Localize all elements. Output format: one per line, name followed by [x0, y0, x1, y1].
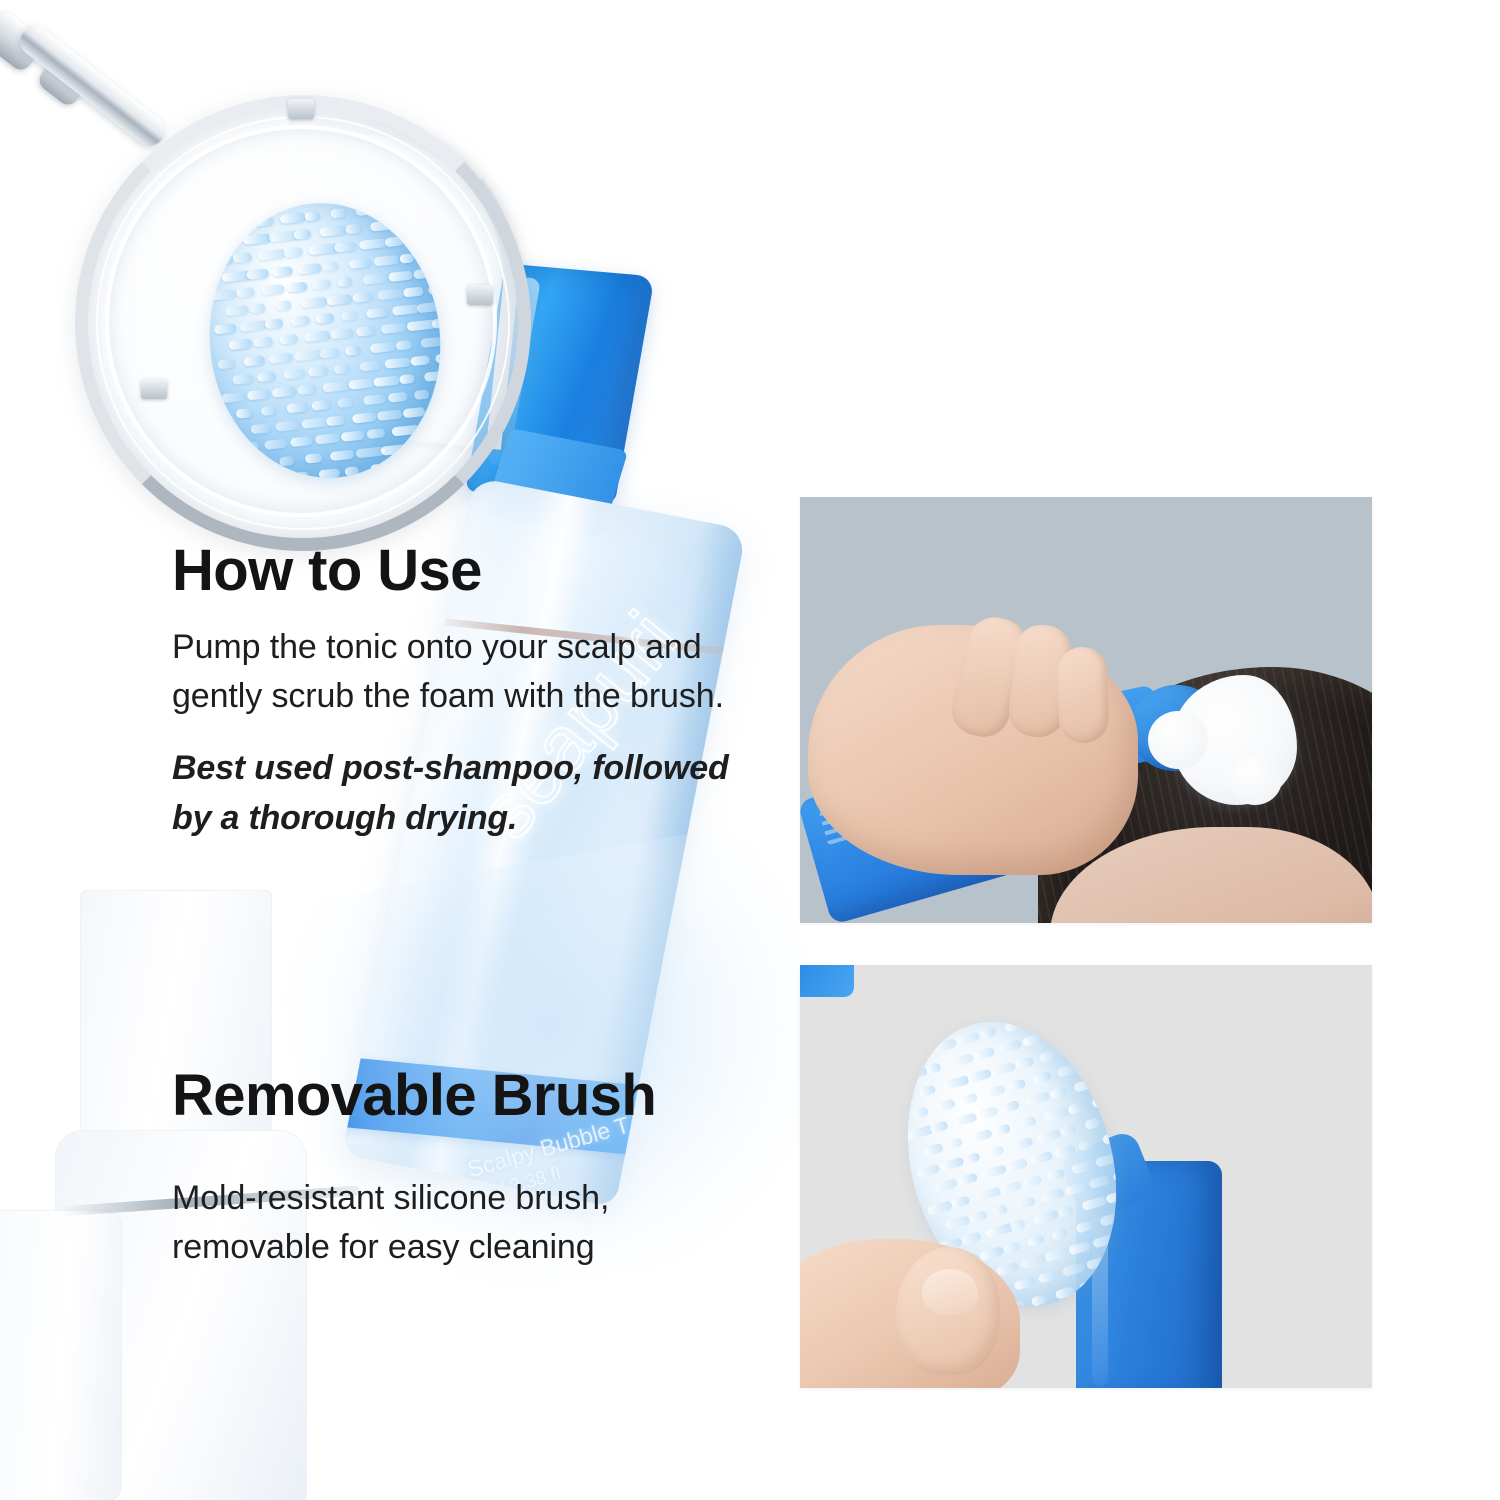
how-to-use-heading: How to Use — [172, 540, 732, 603]
bristle — [239, 320, 267, 332]
photo-brush-removal — [800, 965, 1372, 1388]
bristle — [275, 420, 300, 431]
bristle — [261, 406, 276, 416]
bristle — [435, 352, 453, 363]
bristle — [413, 390, 429, 401]
bristle — [912, 1106, 929, 1119]
thumbnail — [922, 1269, 978, 1315]
bristle — [940, 1156, 965, 1171]
bristle — [315, 433, 340, 444]
bristle — [366, 429, 385, 440]
bristle — [370, 220, 398, 232]
bristle — [901, 1066, 928, 1082]
bristle — [406, 442, 423, 453]
finger — [1056, 646, 1109, 744]
bristle — [272, 386, 296, 397]
bristle — [1057, 1205, 1074, 1218]
bristle — [330, 449, 355, 460]
bristle — [996, 1262, 1019, 1277]
bristle — [406, 320, 436, 332]
bristle — [337, 397, 354, 408]
bristle — [932, 1038, 957, 1053]
bristle — [265, 318, 284, 329]
bristle — [995, 1123, 1011, 1136]
how-to-use-body: Pump the tonic onto your scalp and gentl… — [172, 623, 732, 722]
bristle — [319, 225, 347, 237]
bristle — [1051, 1227, 1069, 1240]
bristle — [1045, 1027, 1067, 1041]
bristle — [305, 211, 321, 221]
bristle — [257, 371, 275, 382]
bristle — [247, 268, 269, 279]
bristle — [341, 311, 358, 322]
bristle — [919, 1084, 937, 1097]
bristle — [1073, 1077, 1101, 1093]
bristle — [1068, 1241, 1092, 1256]
brush-head-magnified — [196, 192, 453, 490]
removable-brush-body: Mold-resistant silicone brush, removable… — [172, 1174, 772, 1273]
bristle — [1080, 1056, 1104, 1071]
bristle — [370, 341, 396, 353]
bristle — [1032, 1071, 1052, 1085]
magnifier-lens — [105, 125, 497, 517]
bristle — [345, 224, 362, 235]
bristle — [1019, 1115, 1038, 1128]
bristle — [374, 254, 400, 266]
bristle — [1009, 1219, 1026, 1232]
bristle — [1084, 1117, 1101, 1130]
bristle — [344, 466, 359, 476]
foam — [1172, 675, 1297, 805]
magnifier-handle — [0, 13, 205, 163]
bristle — [341, 431, 365, 442]
bristle — [272, 266, 293, 277]
bristle — [377, 410, 402, 422]
section-removable-brush: Removable Brush Mold-resistant silicone … — [172, 1065, 772, 1273]
bristle — [294, 349, 325, 361]
bristle — [254, 337, 274, 348]
bristle — [1040, 1188, 1065, 1203]
bristle — [243, 477, 258, 487]
bristle — [432, 439, 450, 450]
removable-brush-heading: Removable Brush — [172, 1065, 772, 1128]
bristle — [923, 1142, 944, 1156]
bristle — [207, 255, 233, 267]
bristle — [980, 1027, 997, 1040]
magnifier-clip — [141, 379, 167, 399]
bristle — [1060, 1124, 1077, 1137]
bristle — [312, 400, 331, 411]
bristle — [261, 284, 285, 295]
bristle — [943, 1074, 971, 1090]
bristle — [294, 229, 311, 240]
bristle — [964, 1152, 981, 1165]
bristle — [1001, 1100, 1020, 1113]
bristle — [1061, 1262, 1086, 1277]
bristle — [399, 374, 415, 385]
bristle — [236, 287, 255, 298]
magnifier-icon — [75, 95, 555, 575]
bristle — [232, 373, 254, 384]
bristle — [1049, 1086, 1068, 1099]
bristle — [388, 270, 413, 281]
bristle — [1088, 1175, 1110, 1189]
bristle — [1075, 1220, 1094, 1233]
bristle — [254, 216, 273, 227]
bristle — [352, 292, 373, 303]
bristle — [442, 420, 453, 431]
bristle — [355, 446, 385, 458]
handle-joint — [35, 55, 91, 109]
bristle — [1021, 1033, 1043, 1047]
bristle — [1005, 1158, 1028, 1173]
bristle — [301, 297, 328, 309]
bristle — [1027, 1234, 1045, 1247]
bristle — [221, 392, 245, 403]
bristle — [973, 1047, 995, 1061]
bristle — [363, 394, 387, 405]
bristle — [374, 375, 400, 387]
bristle — [1091, 1094, 1113, 1108]
bristle — [1020, 1253, 1048, 1269]
bristle — [1004, 1018, 1026, 1032]
bristle — [410, 234, 431, 245]
bristle — [424, 370, 446, 381]
blue-corner-accent — [800, 965, 854, 997]
bristle — [1064, 1181, 1088, 1196]
bristle — [225, 305, 249, 316]
bristle — [323, 380, 352, 392]
bristle — [232, 253, 252, 264]
bristle — [981, 1164, 1007, 1180]
bristle — [399, 253, 414, 263]
bristle — [312, 279, 331, 290]
bristle — [979, 1246, 1005, 1261]
bristle — [1016, 1196, 1036, 1210]
bristle — [203, 222, 219, 232]
bristle — [1069, 1020, 1089, 1034]
bristle — [1077, 1139, 1094, 1152]
bristle — [279, 334, 298, 345]
bristle — [977, 1106, 999, 1120]
bristle — [337, 277, 352, 287]
bristle — [417, 301, 446, 313]
bristle — [283, 247, 303, 258]
bristle — [1055, 1286, 1076, 1300]
bristle — [999, 1180, 1023, 1195]
bristle — [991, 1061, 1017, 1076]
handle-joint — [0, 8, 47, 74]
bristle — [421, 457, 445, 468]
bristle — [884, 1052, 908, 1067]
bristle — [956, 1031, 981, 1046]
bristle — [348, 378, 376, 390]
bristle — [268, 473, 293, 484]
bristle — [392, 304, 420, 316]
bristle — [301, 417, 332, 429]
bristle — [421, 214, 451, 226]
bristle — [953, 1113, 977, 1128]
bristle — [1003, 1241, 1022, 1254]
bristle — [1028, 1013, 1044, 1026]
bristle — [243, 233, 272, 245]
bristle — [395, 339, 412, 350]
bristle — [250, 303, 265, 313]
bristle — [377, 288, 404, 300]
bristle — [968, 1210, 988, 1224]
magnifier-clip — [288, 99, 314, 119]
bristle — [348, 257, 372, 268]
bristle — [1053, 1144, 1076, 1159]
bristle — [308, 366, 329, 377]
bristle — [395, 217, 422, 229]
bristle — [933, 1178, 958, 1193]
bristle — [1037, 1271, 1057, 1285]
bristle — [1056, 1064, 1078, 1078]
bristle — [228, 460, 255, 472]
bristle — [323, 261, 339, 271]
bristle — [279, 456, 295, 467]
bristle — [381, 443, 410, 455]
bristle — [305, 331, 331, 343]
handle-bar — [14, 20, 170, 151]
bristle — [975, 1186, 1002, 1202]
bristle — [395, 460, 417, 471]
bristle — [308, 244, 338, 256]
bristle — [352, 412, 377, 423]
bristle — [406, 200, 427, 211]
bristle — [1081, 1196, 1108, 1212]
bristle — [392, 425, 420, 437]
magnifier-clip — [467, 285, 493, 305]
bristle — [961, 1232, 982, 1246]
bristle — [283, 368, 305, 379]
bristle — [236, 408, 253, 419]
bristle — [319, 347, 340, 358]
flask-shape — [0, 1210, 122, 1500]
bristle — [228, 339, 252, 350]
bristle — [988, 1145, 1004, 1158]
bristle — [960, 1092, 978, 1105]
bristle — [1047, 1168, 1066, 1181]
bristle — [286, 402, 308, 413]
bristle — [1036, 1129, 1062, 1144]
bristle — [936, 1098, 957, 1112]
bristle — [925, 1062, 942, 1075]
bristle — [388, 392, 408, 403]
section-how-to-use: How to Use Pump the tonic onto your scal… — [172, 540, 732, 843]
bottle-neck — [484, 428, 628, 537]
bristle — [290, 316, 310, 327]
bristle — [1008, 1078, 1027, 1091]
bristle — [381, 323, 406, 335]
bristle — [297, 384, 316, 395]
bristle — [334, 242, 357, 253]
bristle — [359, 360, 381, 371]
bristle — [428, 405, 445, 416]
bristle — [290, 436, 313, 447]
magnifier-ring — [75, 95, 531, 551]
bristle — [326, 294, 352, 306]
bristle — [279, 212, 305, 224]
bristle — [243, 355, 265, 366]
bristle — [421, 336, 444, 347]
bristle — [225, 427, 241, 437]
photo-scalp-application — [800, 497, 1372, 923]
how-to-use-emphasis: Best used post-shampoo, followed by a th… — [172, 744, 732, 843]
bristle — [417, 423, 442, 434]
bristle — [403, 286, 424, 297]
bristle — [221, 270, 252, 282]
bristle — [370, 462, 400, 474]
bristle — [997, 1039, 1022, 1054]
bristle — [344, 345, 360, 356]
bristle — [304, 453, 322, 464]
bristle — [217, 358, 234, 369]
bristle — [424, 249, 451, 261]
bristle — [895, 1090, 915, 1104]
bristle — [1063, 1043, 1080, 1056]
bristle — [971, 1128, 993, 1142]
bristle — [1015, 1056, 1035, 1070]
bristle — [927, 1200, 953, 1215]
bristle — [984, 1084, 1006, 1098]
bristle — [428, 283, 454, 295]
bristle — [359, 238, 388, 250]
bristle — [1012, 1137, 1034, 1151]
bristle — [210, 289, 237, 301]
bristle — [319, 468, 340, 479]
bristle — [218, 237, 237, 248]
product-infographic: seapuri Scalpy Bubble T ml / 3.38 fl — [0, 0, 1500, 1500]
bristle — [276, 300, 292, 311]
bristle — [1031, 1294, 1048, 1307]
bristle — [403, 407, 426, 418]
bristle — [414, 268, 438, 279]
bristle — [947, 1137, 963, 1150]
bristle — [432, 317, 454, 329]
bristle — [992, 1204, 1008, 1217]
bristle — [330, 208, 346, 218]
bristle — [286, 281, 307, 292]
bristle — [315, 313, 334, 324]
bristle — [366, 307, 388, 318]
bristle — [446, 454, 454, 466]
bristle — [363, 273, 389, 285]
bristle — [355, 326, 375, 337]
bristle — [214, 323, 237, 334]
bristle — [257, 249, 285, 261]
bristle — [250, 423, 271, 434]
bristle — [239, 442, 259, 453]
bristle — [916, 1163, 941, 1178]
bristle — [1039, 1049, 1058, 1062]
bristle — [356, 204, 384, 216]
bristle — [294, 471, 310, 482]
bristle — [951, 1195, 971, 1209]
bristle — [326, 416, 346, 427]
bristle — [265, 439, 289, 450]
bristle — [334, 363, 350, 373]
bristle — [967, 1068, 993, 1083]
bristle — [1013, 1277, 1036, 1292]
bristle — [410, 355, 431, 366]
bristle — [1067, 1102, 1084, 1115]
bristle — [385, 237, 405, 248]
bristle — [1052, 1006, 1069, 1019]
bristle — [957, 1173, 978, 1187]
bristle — [1033, 1209, 1060, 1225]
bristle — [1025, 1091, 1051, 1106]
bristle — [384, 357, 411, 369]
bristle — [330, 328, 354, 339]
bristle — [1071, 1160, 1092, 1174]
bristle — [254, 458, 274, 469]
bristle — [944, 1215, 971, 1231]
bristle — [268, 352, 293, 363]
bristle — [1023, 1174, 1043, 1188]
bristle — [297, 263, 322, 274]
bristle — [228, 219, 247, 230]
bristle — [1029, 1151, 1053, 1166]
bristle — [949, 1053, 975, 1068]
bristle — [246, 389, 270, 400]
bristle — [439, 386, 454, 397]
bottle-cap — [465, 263, 655, 503]
bristle — [268, 230, 299, 242]
bristle — [381, 202, 400, 213]
magnifier-arc — [257, 111, 534, 450]
bristle — [908, 1045, 934, 1060]
bristle — [929, 1121, 949, 1135]
